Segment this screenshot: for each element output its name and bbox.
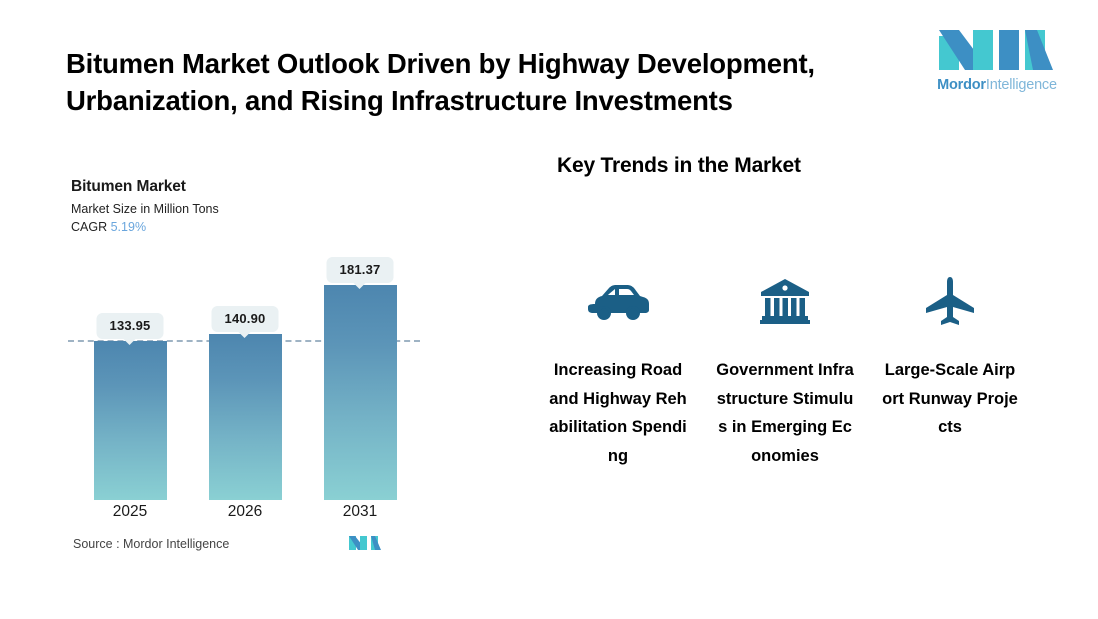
trend-label-airport-runway: Large-Scale Airport Runway Projects <box>880 356 1020 442</box>
bar-2025[interactable] <box>94 341 167 500</box>
brand-name-bold: Mordor <box>937 77 986 93</box>
x-axis-tick-2026: 2026 <box>228 503 262 521</box>
trend-label-road-highway: Increasing Road and Highway Rehabilitati… <box>548 356 688 470</box>
bar-2026[interactable] <box>209 334 282 500</box>
source-mordor-logo-icon <box>347 533 383 553</box>
bank-icon <box>715 270 855 332</box>
brand-name-light: Intelligence <box>986 77 1057 93</box>
bar-chart-panel: Bitumen Market Market Size in Million To… <box>0 0 500 619</box>
trend-card-road-highway: Increasing Road and Highway Rehabilitati… <box>548 270 688 470</box>
trend-card-airport-runway: Large-Scale Airport Runway Projects <box>880 270 1020 442</box>
bar-value-label-2031: 181.37 <box>327 257 394 283</box>
car-icon <box>548 270 688 332</box>
trend-label-government-stimulus: Government Infrastructure Stimulus in Em… <box>715 356 855 470</box>
trend-card-government-stimulus: Government Infrastructure Stimulus in Em… <box>715 270 855 470</box>
chart-plot-area: 133.95 140.90 181.37 2025 2026 2031 Sour… <box>0 0 500 619</box>
x-axis-tick-2031: 2031 <box>343 503 377 521</box>
brand-logo-text: MordorIntelligence <box>933 77 1061 93</box>
source-text: Source : Mordor Intelligence <box>73 537 229 551</box>
bar-value-label-2025: 133.95 <box>97 313 164 339</box>
x-axis-tick-2025: 2025 <box>113 503 147 521</box>
bar-2031[interactable] <box>324 285 397 500</box>
bar-value-label-2026: 140.90 <box>212 306 279 332</box>
infographic-page: Bitumen Market Outlook Driven by Highway… <box>0 0 1098 619</box>
key-trends-heading: Key Trends in the Market <box>557 154 801 178</box>
airplane-icon <box>880 270 1020 332</box>
brand-logo: MordorIntelligence <box>933 24 1061 93</box>
mordor-m-logo-icon <box>933 24 1061 74</box>
